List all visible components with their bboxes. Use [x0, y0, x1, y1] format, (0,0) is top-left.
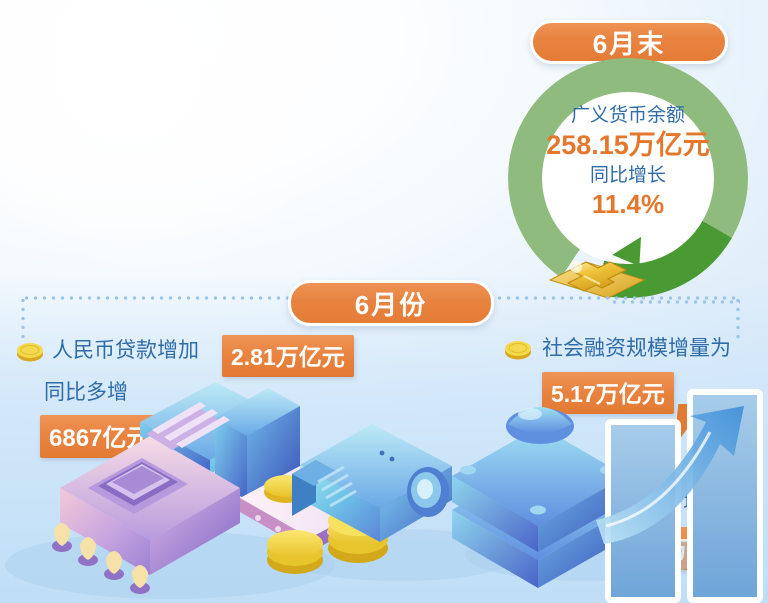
social-financing-label: 社会融资规模增量为	[542, 338, 731, 359]
connector-dots-right-vertical	[736, 296, 740, 342]
gold-coin-icon-loans	[16, 340, 44, 362]
background-highlight-glow	[0, 0, 380, 270]
loans-label: 人民币贷款增加	[52, 340, 199, 361]
money-factory-illustration	[0, 370, 768, 603]
gold-yuan-icon	[540, 240, 658, 306]
connector-dots-left-vertical	[21, 296, 25, 340]
ring-chart-hole	[542, 92, 714, 264]
infographic-canvas: 6月末 广义货币余额 258.15万亿元 同比增长 11.4%	[0, 0, 768, 603]
growth-bars-graphic	[596, 392, 760, 600]
connector-dots-left-horizontal	[22, 296, 290, 300]
gold-coin-icon-social-financing	[504, 338, 532, 360]
badge-june-month: 6月份	[288, 280, 494, 326]
